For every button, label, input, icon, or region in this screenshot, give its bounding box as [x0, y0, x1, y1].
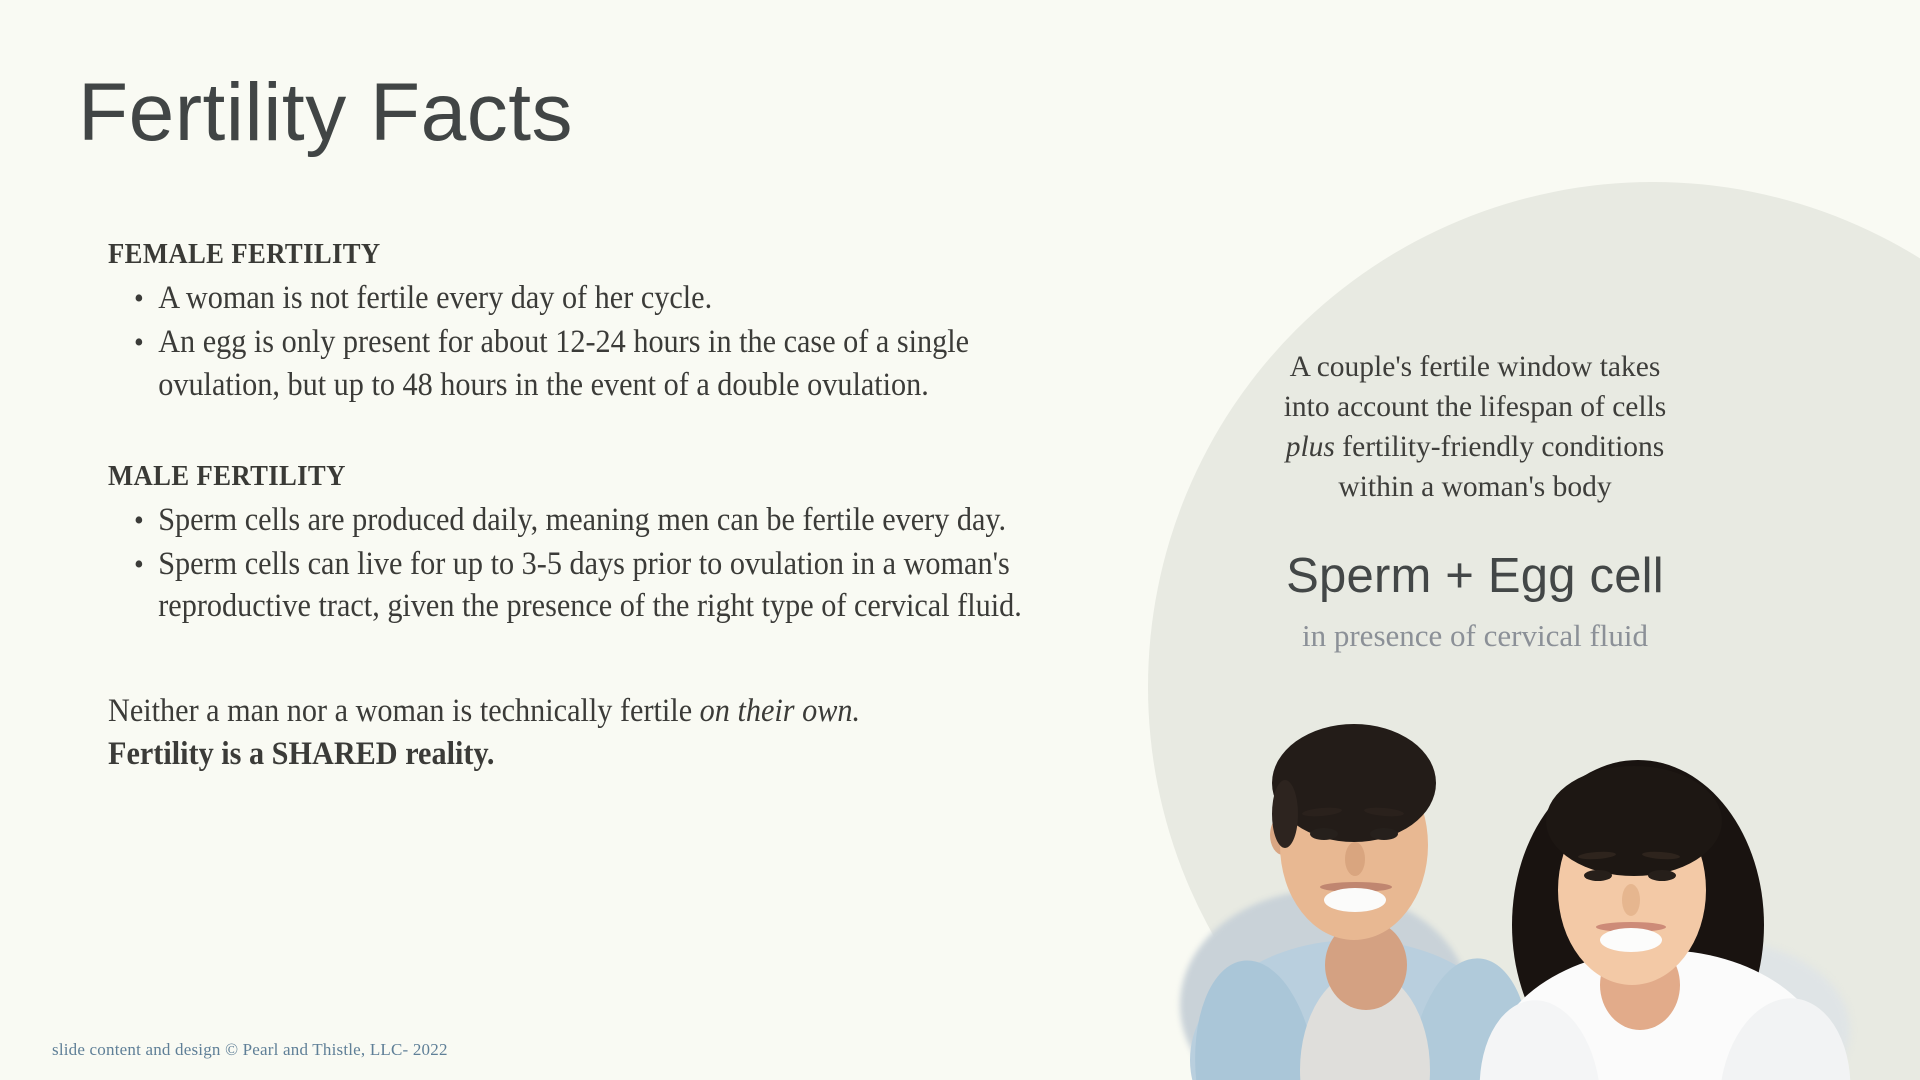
footer-credit: slide content and design © Pearl and Thi… — [52, 1040, 448, 1060]
sperm-egg-headline: Sperm + Egg cell — [1215, 548, 1735, 604]
paragraph-line-4: within a woman's body — [1215, 468, 1735, 508]
paragraph-italic-word: plus — [1286, 431, 1335, 463]
closing-italic-text: on their own. — [700, 693, 860, 729]
page-title: Fertility Facts — [78, 72, 573, 154]
man-eye-right — [1370, 828, 1398, 840]
bullet-dot-icon: • — [134, 545, 144, 585]
man-eye-left — [1310, 828, 1338, 840]
section-heading-female: FEMALE FERTILITY — [108, 238, 1056, 271]
man-smile — [1324, 888, 1386, 912]
list-item: • An egg is only present for about 12-24… — [108, 321, 1066, 407]
left-content-column: FEMALE FERTILITY • A woman is not fertil… — [108, 238, 1138, 776]
bullet-list-male: • Sperm cells are produced daily, meanin… — [108, 499, 1138, 629]
bullet-dot-icon: • — [134, 279, 144, 319]
list-item: • Sperm cells can live for up to 3-5 day… — [108, 543, 1066, 629]
fertile-window-paragraph: A couple's fertile window takes into acc… — [1215, 348, 1735, 508]
list-item-text: An egg is only present for about 12-24 h… — [158, 324, 969, 403]
paragraph-line-1: A couple's fertile window takes — [1215, 348, 1735, 388]
closing-line-2: Fertility is a SHARED reality. — [108, 733, 1066, 776]
couple-photo — [1160, 640, 1860, 1080]
woman-eye-left — [1584, 870, 1612, 881]
list-item: • A woman is not fertile every day of he… — [108, 277, 1066, 320]
woman-nose — [1622, 884, 1640, 916]
slide-canvas: Fertility Facts FEMALE FERTILITY • A wom… — [0, 0, 1920, 1080]
man-nose — [1345, 842, 1365, 876]
man-hair-fade — [1272, 780, 1298, 848]
list-item: • Sperm cells are produced daily, meanin… — [108, 499, 1066, 542]
woman-eye-right — [1648, 870, 1676, 881]
section-heading-male: MALE FERTILITY — [108, 460, 1056, 493]
closing-statement: Neither a man nor a woman is technically… — [108, 690, 1066, 776]
paragraph-line-3-rest: fertility-friendly conditions — [1335, 431, 1664, 463]
list-item-text: Sperm cells can live for up to 3-5 days … — [158, 546, 1022, 625]
closing-plain-text: Neither a man nor a woman is technically… — [108, 693, 700, 729]
bullet-dot-icon: • — [134, 501, 144, 541]
bullet-list-female: • A woman is not fertile every day of he… — [108, 277, 1138, 407]
closing-line-1: Neither a man nor a woman is technically… — [108, 690, 1066, 733]
bullet-dot-icon: • — [134, 323, 144, 363]
section-spacer — [108, 408, 1138, 460]
woman-smile — [1600, 928, 1662, 952]
paragraph-line-2: into account the lifespan of cells — [1215, 388, 1735, 428]
list-item-text: Sperm cells are produced daily, meaning … — [158, 502, 1006, 538]
paragraph-line-3: plus fertility-friendly conditions — [1215, 428, 1735, 468]
list-item-text: A woman is not fertile every day of her … — [158, 280, 712, 316]
woman-hair-top — [1546, 766, 1722, 876]
